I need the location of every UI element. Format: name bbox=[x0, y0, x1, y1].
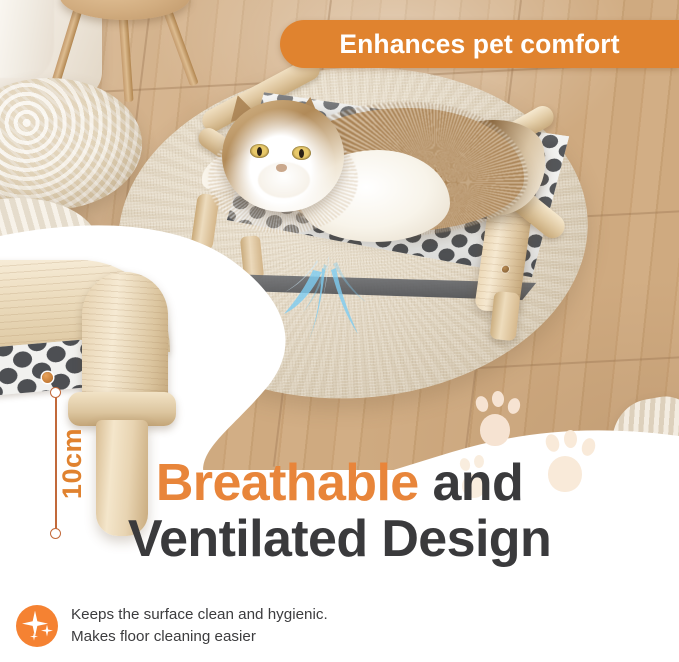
pawprint-decoration bbox=[470, 392, 530, 454]
headline-block: Breathable and Ventilated Design bbox=[0, 455, 679, 567]
headline-accent-word: Breathable bbox=[156, 454, 419, 512]
banner-text: Enhances pet comfort bbox=[339, 29, 619, 60]
cat-on-hammock bbox=[200, 92, 540, 262]
inset-arm-face bbox=[82, 272, 168, 404]
infographic-canvas: 10cm Enhances pet comfort Breathable and… bbox=[0, 0, 679, 662]
hammock-leg-front-right bbox=[490, 291, 521, 341]
screw-icon bbox=[501, 266, 509, 273]
top-banner: Enhances pet comfort bbox=[280, 20, 679, 68]
headline-line-1: Breathable and bbox=[0, 455, 679, 511]
cat-eye-right bbox=[292, 146, 311, 160]
footer-text: Keeps the surface clean and hygienic. Ma… bbox=[71, 604, 328, 647]
curtain bbox=[0, 0, 54, 78]
cat-eye-left bbox=[250, 144, 269, 158]
sparkle-icon bbox=[16, 605, 58, 647]
footer-caption: Keeps the surface clean and hygienic. Ma… bbox=[16, 604, 656, 647]
footer-line-2: Makes floor cleaning easier bbox=[71, 626, 328, 648]
footer-line-1: Keeps the surface clean and hygienic. bbox=[71, 604, 328, 626]
screw-icon bbox=[42, 372, 53, 383]
measurement-endpoint-top bbox=[50, 387, 61, 398]
headline-line-2: Ventilated Design bbox=[0, 511, 679, 567]
cat-nose bbox=[276, 164, 287, 172]
headline-line1-rest: and bbox=[419, 454, 524, 512]
